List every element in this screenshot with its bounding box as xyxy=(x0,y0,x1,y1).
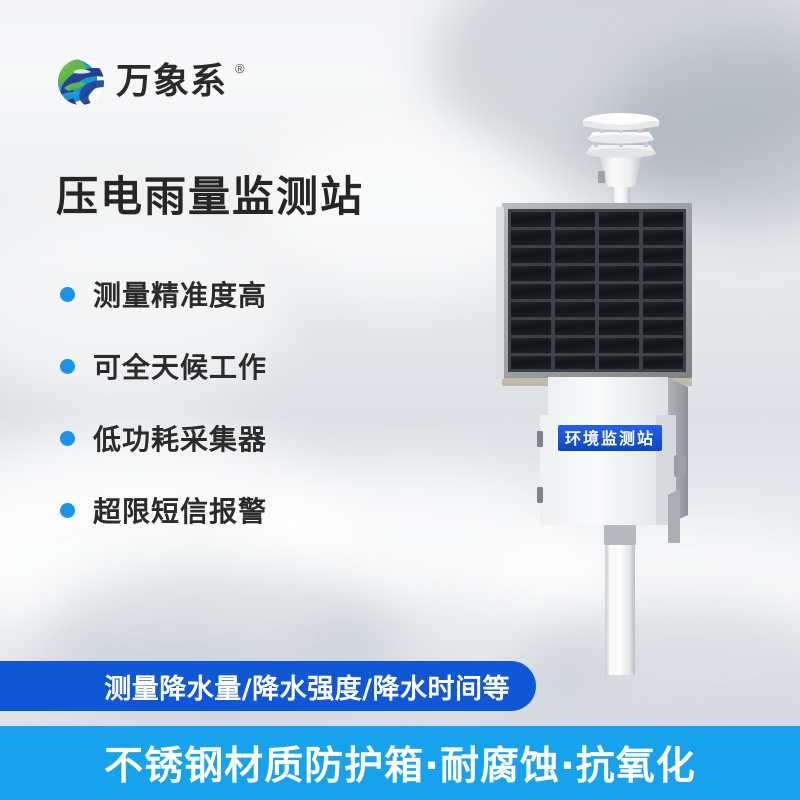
brand-logo: 万象系 ® xyxy=(56,57,245,107)
feature-list: 测量精准度高 可全天候工作 低功耗采集器 超限短信报警 xyxy=(60,258,267,546)
enclosure-hinge xyxy=(537,431,543,447)
sensor-connector xyxy=(598,171,605,183)
weather-station-illustration: 环境监测站 xyxy=(470,95,800,675)
instrument-enclosure-icon: 环境监测站 xyxy=(537,377,688,543)
pole-clamp xyxy=(604,525,636,545)
enclosure-hinge xyxy=(537,487,543,503)
list-item: 低功耗采集器 xyxy=(60,402,267,474)
bullet-dot-icon xyxy=(60,503,75,518)
product-poster: 万象系 ® 压电雨量监测站 测量精准度高 可全天候工作 低功耗采集器 超限短信报… xyxy=(0,0,800,800)
sensor-disc-lower-edge xyxy=(586,148,656,158)
page-title: 压电雨量监测站 xyxy=(56,163,364,224)
enclosure-latch xyxy=(674,455,686,477)
enclosure-bracket-strip xyxy=(668,489,680,543)
radiation-shield-sensor-icon xyxy=(583,113,659,187)
bullet-dot-icon xyxy=(60,359,75,374)
brand-name: 万象系 xyxy=(116,64,227,100)
trademark-symbol: ® xyxy=(235,61,245,76)
bottom-tagline-text: 不锈钢材质防护箱·耐腐蚀·抗氧化 xyxy=(104,735,696,791)
pill-banner-text: 测量降水量/降水强度/降水时间等 xyxy=(104,667,510,706)
solar-panel-icon xyxy=(496,203,692,386)
product-image: 环境监测站 xyxy=(470,95,800,675)
list-item: 可全天候工作 xyxy=(60,330,267,402)
enclosure-label-text: 环境监测站 xyxy=(565,429,655,448)
bullet-dot-icon xyxy=(60,431,75,446)
bullet-dot-icon xyxy=(60,287,75,302)
list-item: 测量精准度高 xyxy=(60,258,267,330)
feature-label: 低功耗采集器 xyxy=(93,418,267,458)
sensor-disc-middle-edge xyxy=(588,135,654,144)
bottom-tagline-bar: 不锈钢材质防护箱·耐腐蚀·抗氧化 xyxy=(0,726,800,800)
feature-label: 超限短信报警 xyxy=(93,490,267,530)
solar-panel-edge xyxy=(496,207,504,379)
sensor-top-highlight xyxy=(591,114,651,125)
feature-label: 测量精准度高 xyxy=(93,274,267,314)
sensor-collar xyxy=(600,157,642,187)
list-item: 超限短信报警 xyxy=(60,474,267,546)
feature-pill-banner: 测量降水量/降水强度/降水时间等 xyxy=(0,661,536,711)
globe-swirl-logo-icon xyxy=(56,57,106,107)
feature-label: 可全天候工作 xyxy=(93,346,267,386)
